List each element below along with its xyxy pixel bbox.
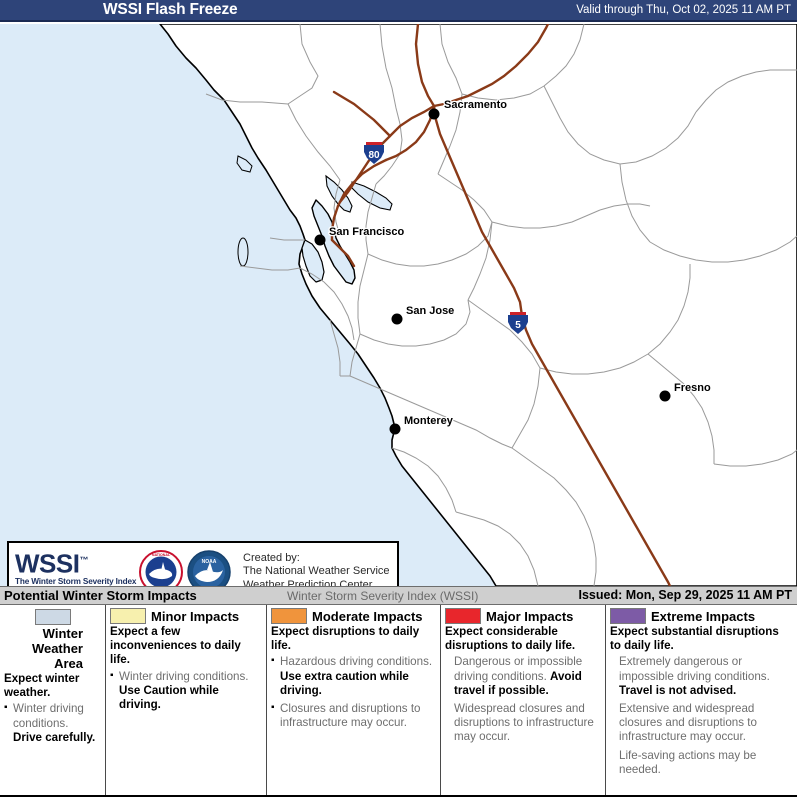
national-weather-service-seal: NATIONAL SERVICE: [139, 550, 183, 586]
legend-body: Expect a few inconveniences to daily lif…: [110, 625, 261, 712]
svg-text:80: 80: [368, 150, 380, 161]
city-dot: [429, 109, 440, 120]
wssi-logo: WSSI™ The Winter Storm Severity Index: [15, 547, 133, 586]
legend-note: Widespread closures and disruptions to i…: [445, 702, 600, 745]
legend-summary: Expect substantial disruptions to daily …: [610, 625, 792, 653]
created-by-line-2: The National Weather Service: [243, 565, 390, 579]
legend-title: Moderate Impacts: [312, 609, 423, 624]
wssi-word-text: WSSI: [15, 549, 79, 579]
legend-swatch-extreme-impacts: [610, 608, 646, 624]
legend-summary: Expect considerable disruptions to daily…: [445, 625, 600, 653]
legend-swatch-major-impacts: [445, 608, 481, 624]
legend-summary: Expect disruptions to daily life.: [271, 625, 435, 653]
legend-note: Life-saving actions may be needed.: [610, 749, 792, 777]
wssi-logo-box: WSSI™ The Winter Storm Severity Index NA…: [7, 541, 399, 586]
city-dot: [660, 391, 671, 402]
impacts-bar-title: Potential Winter Storm Impacts: [4, 588, 197, 603]
legend-header: Moderate Impacts: [271, 608, 435, 624]
legend-summary: Expect a few inconveniences to daily lif…: [110, 625, 261, 668]
legend-emphasis: Drive carefully.: [13, 731, 95, 744]
created-by-line-1: Created by:: [243, 552, 390, 566]
map-canvas[interactable]: 80 5 Sacramento San Francisco: [0, 24, 797, 586]
legend-column-winter-weather-area: Winter Weather AreaExpect winter weather…: [0, 605, 105, 795]
city-label: Monterey: [404, 415, 454, 427]
legend-swatch-winter-weather-area: [35, 609, 71, 625]
legend-swatch-moderate-impacts: [271, 608, 307, 624]
city-label: San Francisco: [329, 226, 404, 238]
noaa-seal-text: NOAA: [202, 559, 217, 565]
page-header: WSSI Flash Freeze Valid through Thu, Oct…: [0, 0, 797, 22]
wssi-flash-freeze-page: WSSI Flash Freeze Valid through Thu, Oct…: [0, 0, 797, 797]
svg-text:NATIONAL: NATIONAL: [152, 553, 171, 557]
noaa-seal: NOAA: [187, 550, 231, 586]
city-dot: [390, 424, 401, 435]
legend-column-extreme-impacts: Extreme ImpactsExpect substantial disrup…: [605, 605, 797, 795]
legend-body: Expect winter weather.Winter driving con…: [4, 672, 100, 745]
legend-header: Winter Weather Area: [4, 608, 100, 671]
legend-emphasis: Avoid travel if possible.: [454, 670, 582, 697]
impacts-legend: Winter Weather AreaExpect winter weather…: [0, 605, 797, 797]
legend-bullet: Winter driving conditions. Drive careful…: [4, 702, 100, 745]
created-by-line-3: Weather Prediction Center: [243, 579, 390, 586]
agency-seals: NATIONAL SERVICE NOAA: [139, 550, 231, 586]
page-title: WSSI Flash Freeze: [103, 1, 237, 19]
legend-note: Extremely dangerous or impossible drivin…: [610, 655, 792, 698]
city-dot: [392, 314, 403, 325]
issued-timestamp: Issued: Mon, Sep 29, 2025 11 AM PT: [578, 588, 792, 602]
legend-title: Major Impacts: [486, 609, 573, 624]
legend-body: Expect substantial disruptions to daily …: [610, 625, 792, 777]
legend-header: Major Impacts: [445, 608, 600, 624]
legend-header: Extreme Impacts: [610, 608, 792, 624]
wssi-subtitle: The Winter Storm Severity Index: [15, 577, 133, 586]
created-by-block: Created by: The National Weather Service…: [243, 552, 390, 586]
legend-title: Extreme Impacts: [651, 609, 755, 624]
city-label: Fresno: [674, 382, 711, 394]
legend-column-major-impacts: Major ImpactsExpect considerable disrupt…: [440, 605, 605, 795]
legend-swatch-minor-impacts: [110, 608, 146, 624]
trademark-icon: ™: [79, 555, 88, 565]
map-graphic: 80 5 Sacramento San Francisco: [0, 24, 797, 586]
impacts-bar-subtitle: Winter Storm Severity Index (WSSI): [287, 589, 478, 603]
city-label: Sacramento: [444, 99, 507, 111]
legend-header: Minor Impacts: [110, 608, 261, 624]
valid-through-text: Valid through Thu, Oct 02, 2025 11 AM PT: [576, 4, 791, 16]
legend-bullet: Closures and disruptions to infrastructu…: [271, 702, 435, 730]
impacts-bar: Potential Winter Storm Impacts Winter St…: [0, 586, 797, 605]
legend-body: Expect disruptions to daily life.Hazardo…: [271, 625, 435, 730]
legend-emphasis: Travel is not advised.: [619, 684, 736, 697]
legend-note: Dangerous or impossible driving conditio…: [445, 655, 600, 698]
legend-column-moderate-impacts: Moderate ImpactsExpect disruptions to da…: [266, 605, 440, 795]
svg-text:5: 5: [515, 320, 521, 331]
legend-bullet: Winter driving conditions. Use Caution w…: [110, 670, 261, 713]
legend-emphasis: Use Caution while driving.: [119, 684, 219, 711]
legend-body: Expect considerable disruptions to daily…: [445, 625, 600, 745]
legend-bullet: Hazardous driving conditions. Use extra …: [271, 655, 435, 698]
city-label: San Jose: [406, 305, 454, 317]
legend-column-minor-impacts: Minor ImpactsExpect a few inconveniences…: [105, 605, 266, 795]
legend-note: Extensive and widespread closures and di…: [610, 702, 792, 745]
legend-emphasis: Use extra caution while driving.: [280, 670, 409, 697]
legend-title: Minor Impacts: [151, 609, 239, 624]
legend-title: Winter Weather Area: [25, 626, 83, 671]
wssi-wordmark: WSSI™: [15, 547, 133, 577]
legend-summary: Expect winter weather.: [4, 672, 100, 700]
city-dot: [315, 235, 326, 246]
